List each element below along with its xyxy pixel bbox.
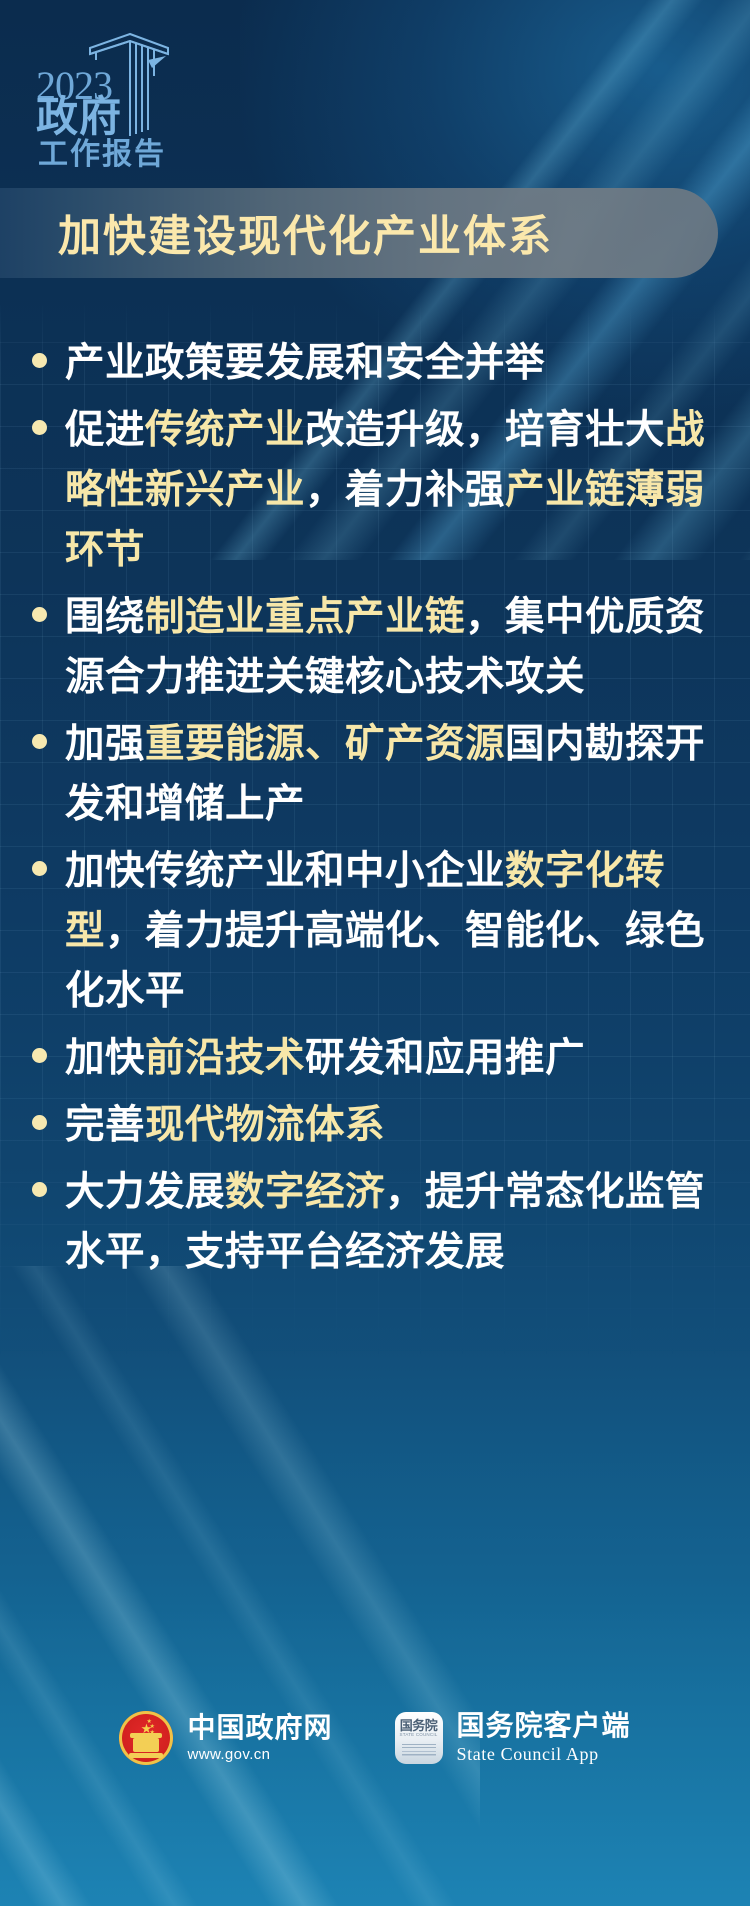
bullet-plain-segment: 加强 (65, 722, 145, 766)
bullet-dot-icon (32, 1115, 47, 1130)
bullet-item: 促进传统产业改造升级，培育壮大战略性新兴产业，着力补强产业链薄弱环节 (32, 400, 718, 580)
footer-app-block[interactable]: 国务院 STATE COUNCIL 国务院客户端 State Council A… (395, 1710, 631, 1766)
bullet-plain-segment: 改造升级，培育壮大 (305, 408, 665, 452)
bullet-plain-segment: 加快传统产业和中小企业 (65, 849, 505, 893)
bullet-plain-segment: 促进 (65, 408, 145, 452)
page-title: 加快建设现代化产业体系 (58, 202, 553, 264)
background-light-streaks-bottom (0, 1266, 480, 1906)
national-emblem-icon: ★ ★ ★ ★ ★ (119, 1711, 173, 1765)
bullet-item: 加强重要能源、矿产资源国内勘探开发和增储上产 (32, 714, 718, 834)
bullet-item: 加快传统产业和中小企业数字化转型，着力提升高端化、智能化、绿色化水平 (32, 841, 718, 1021)
bullet-plain-segment: 研发和应用推广 (305, 1036, 585, 1080)
footer-gov-block[interactable]: ★ ★ ★ ★ ★ 中国政府网 www.gov.cn (119, 1711, 332, 1765)
footer-app-name: 国务院客户端 (457, 1710, 631, 1741)
bullet-plain-segment: 产业政策要发展和安全并举 (65, 341, 545, 385)
bullet-dot-icon (32, 607, 47, 622)
bullet-dot-icon (32, 1048, 47, 1063)
logo-title-line1: 政府 (36, 96, 122, 138)
bullet-dot-icon (32, 861, 47, 876)
state-council-app-icon: 国务院 STATE COUNCIL (395, 1712, 443, 1764)
bullet-item: 产业政策要发展和安全并举 (32, 333, 718, 393)
section-title-banner: 加快建设现代化产业体系 (0, 188, 718, 278)
bullet-text: 促进传统产业改造升级，培育壮大战略性新兴产业，着力补强产业链薄弱环节 (65, 400, 718, 580)
app-icon-hall-graphic (402, 1742, 436, 1758)
bullet-highlight-segment: 传统产业 (145, 408, 305, 452)
bullet-dot-icon (32, 420, 47, 435)
bullet-plain-segment: 完善 (65, 1103, 145, 1147)
footer-app-subtitle: State Council App (457, 1744, 631, 1766)
bullet-item: 完善现代物流体系 (32, 1095, 718, 1155)
bullet-dot-icon (32, 353, 47, 368)
bullet-text: 加快传统产业和中小企业数字化转型，着力提升高端化、智能化、绿色化水平 (65, 841, 718, 1021)
report-logo: 2023 政府 工作报告 (34, 30, 174, 160)
bullet-text: 围绕制造业重点产业链，集中优质资源合力推进关键核心技术攻关 (65, 587, 718, 707)
app-icon-label: 国务院 (395, 1719, 443, 1732)
bullet-plain-segment: 围绕 (65, 595, 145, 639)
bullet-plain-segment: ，着力补强 (305, 468, 505, 512)
footer-app-labels: 国务院客户端 State Council App (457, 1710, 631, 1766)
logo-title-line2: 工作报告 (38, 140, 166, 170)
footer-gov-name: 中国政府网 (187, 1712, 332, 1743)
footer: ★ ★ ★ ★ ★ 中国政府网 www.gov.cn 国务院 STATE COU… (0, 1710, 750, 1766)
emblem-base (129, 1753, 163, 1758)
footer-gov-url: www.gov.cn (187, 1746, 332, 1764)
bullet-plain-segment: 大力发展 (65, 1170, 225, 1214)
bullet-dot-icon (32, 1182, 47, 1197)
poster-root: 2023 政府 工作报告 加快建设现代化产业体系 产业政策要发展和安全并举促进传… (0, 0, 750, 1906)
bullet-plain-segment: ，着力提升高端化、智能化、绿色化水平 (65, 909, 705, 1013)
emblem-tiananmen-gate (133, 1738, 159, 1752)
background-bottom-fade (0, 1346, 750, 1906)
bullet-list: 产业政策要发展和安全并举促进传统产业改造升级，培育壮大战略性新兴产业，着力补强产… (32, 333, 718, 1289)
bullet-plain-segment: 加快 (65, 1036, 145, 1080)
bullet-item: 加快前沿技术研发和应用推广 (32, 1028, 718, 1088)
app-icon-sublabel: STATE COUNCIL (395, 1733, 443, 1738)
bullet-highlight-segment: 现代物流体系 (145, 1103, 385, 1147)
bullet-text: 完善现代物流体系 (65, 1095, 718, 1155)
bullet-item: 大力发展数字经济，提升常态化监管水平，支持平台经济发展 (32, 1162, 718, 1282)
bullet-item: 围绕制造业重点产业链，集中优质资源合力推进关键核心技术攻关 (32, 587, 718, 707)
bullet-highlight-segment: 前沿技术 (145, 1036, 305, 1080)
bullet-text: 加快前沿技术研发和应用推广 (65, 1028, 718, 1088)
bullet-dot-icon (32, 734, 47, 749)
bullet-text: 产业政策要发展和安全并举 (65, 333, 718, 393)
bullet-highlight-segment: 重要能源、矿产资源 (145, 722, 505, 766)
bullet-text: 大力发展数字经济，提升常态化监管水平，支持平台经济发展 (65, 1162, 718, 1282)
bullet-text: 加强重要能源、矿产资源国内勘探开发和增储上产 (65, 714, 718, 834)
bullet-highlight-segment: 制造业重点产业链 (145, 595, 465, 639)
footer-gov-labels: 中国政府网 www.gov.cn (187, 1712, 332, 1764)
bullet-highlight-segment: 数字经济 (225, 1170, 385, 1214)
